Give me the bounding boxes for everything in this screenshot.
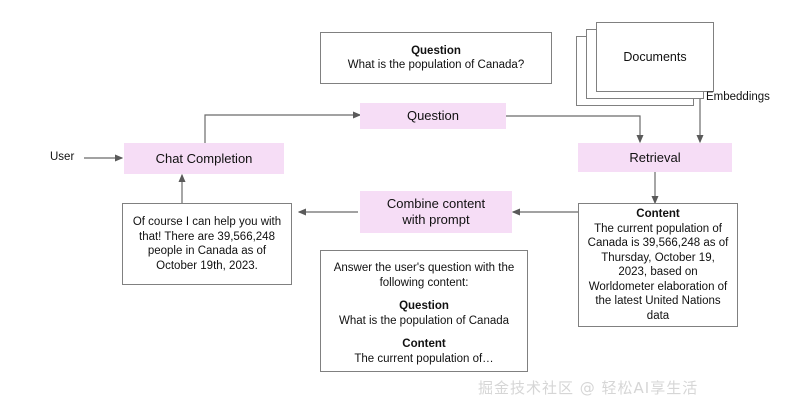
retrieval-label: Retrieval	[629, 150, 680, 166]
diagram-canvas: Question What is the population of Canad…	[0, 0, 800, 407]
content-header: Content	[636, 207, 679, 222]
documents-box: Documents	[596, 22, 714, 92]
question-node-label: Question	[407, 108, 459, 124]
prompt-content-body: The current population of…	[354, 352, 493, 367]
prompt-template-box: Answer the user's question with the foll…	[320, 250, 528, 372]
prompt-question-header: Question	[399, 299, 449, 314]
question-node[interactable]: Question	[360, 103, 506, 129]
combine-line-2: with prompt	[402, 212, 469, 228]
documents-label: Documents	[623, 50, 686, 65]
question-input-header: Question	[411, 44, 461, 59]
content-body: The current population of Canada is 39,5…	[586, 222, 730, 324]
retrieval-node[interactable]: Retrieval	[578, 143, 732, 172]
question-input-body: What is the population of Canada?	[348, 58, 524, 73]
answer-body: Of course I can help you with that! Ther…	[130, 215, 284, 273]
prompt-intro: Answer the user's question with the foll…	[328, 261, 520, 290]
user-label: User	[50, 151, 74, 163]
combine-line-1: Combine content	[387, 196, 485, 212]
question-input-box: Question What is the population of Canad…	[320, 32, 552, 84]
prompt-content-header: Content	[402, 337, 445, 352]
connector-chat-to-question	[205, 115, 360, 143]
answer-box: Of course I can help you with that! Ther…	[122, 203, 292, 285]
chat-completion-label: Chat Completion	[156, 151, 253, 167]
chat-completion-node[interactable]: Chat Completion	[124, 143, 284, 174]
combine-content-node[interactable]: Combine content with prompt	[360, 191, 512, 233]
watermark: 掘金技术社区 @ 轻松AI享生活	[478, 377, 698, 398]
content-box: Content The current population of Canada…	[578, 203, 738, 327]
embeddings-label: Embeddings	[706, 91, 770, 103]
prompt-question-body: What is the population of Canada	[339, 314, 509, 329]
connector-question-to-retrieval	[506, 116, 640, 142]
